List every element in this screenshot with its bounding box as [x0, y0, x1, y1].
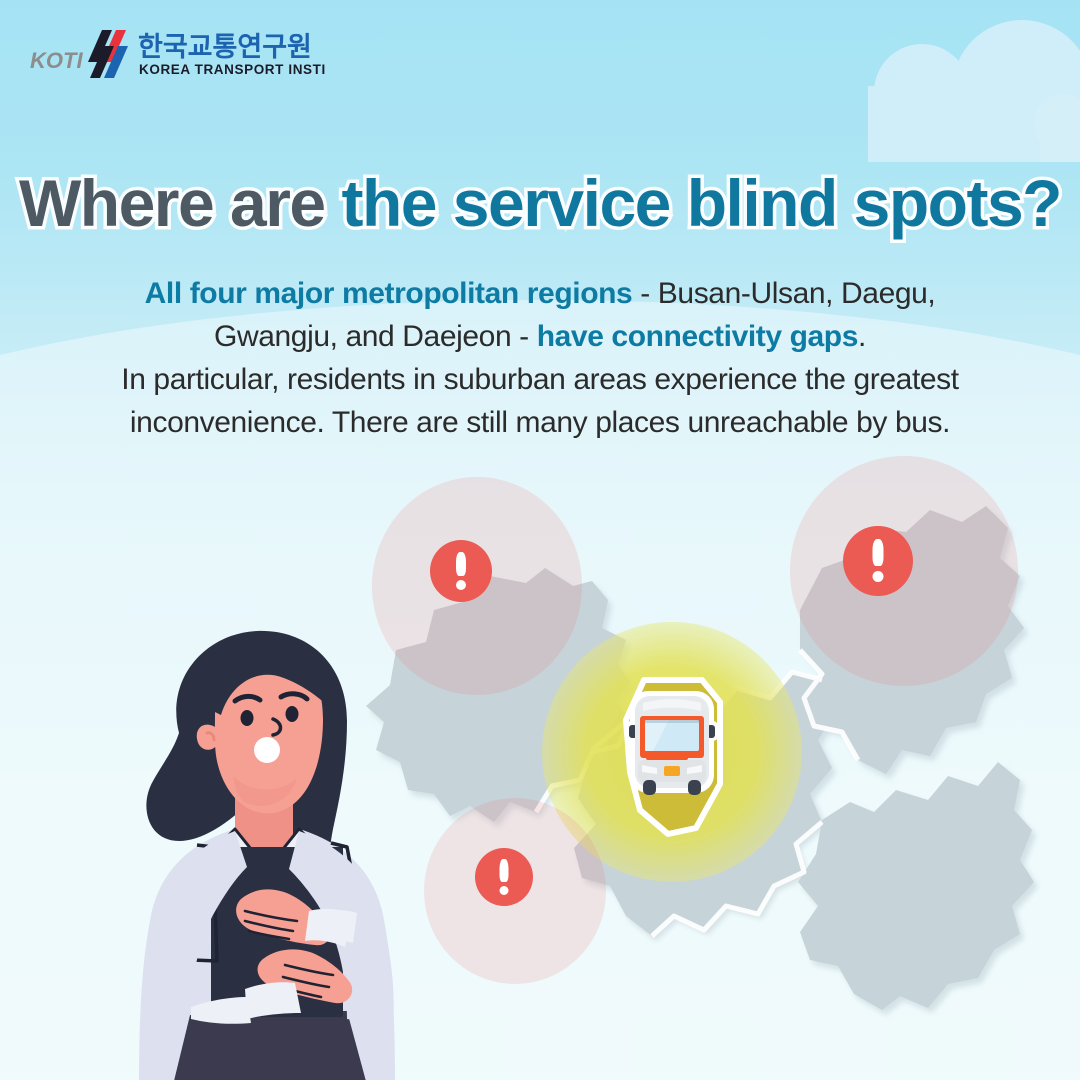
- person-mouth: [254, 737, 280, 763]
- headline-part-2: the service blind spots?: [341, 166, 1061, 240]
- poster-canvas: KOTI 한국교통연구원 KOREA TRANSPORT INSTITUTE W…: [0, 0, 1080, 1080]
- subtitle-line-1-bold: All four major metropolitan regions: [145, 277, 633, 310]
- subtitle-line-2-tail: .: [858, 320, 866, 353]
- woman-with-clipboard-illustration: [95, 615, 435, 1080]
- subtitle-line-2-rest: Gwangju, and Daejeon -: [214, 320, 537, 353]
- svg-text:KOREA TRANSPORT INSTITUTE: KOREA TRANSPORT INSTITUTE: [139, 62, 326, 77]
- logo-slash-mark: [88, 30, 128, 78]
- bus-wheel-left: [643, 780, 656, 795]
- logo-wordmark-english: KOREA TRANSPORT INSTITUTE: [139, 62, 326, 77]
- logo-wordmark-korean: 한국교통연구원: [138, 32, 312, 63]
- subtitle-line-1-rest: - Busan-Ulsan, Daegu,: [632, 277, 935, 310]
- exclamation-glyph: [475, 848, 533, 906]
- warning-exclamation-icon-northeast[interactable]: [843, 526, 913, 596]
- cloud-icon-small: [1040, 120, 1080, 162]
- person-skirt: [173, 1011, 367, 1080]
- subtitle-line-2: Gwangju, and Daejeon - have connectivity…: [0, 315, 1080, 358]
- koti-logo[interactable]: KOTI 한국교통연구원 KOREA TRANSPORT INSTITUTE: [26, 22, 326, 84]
- exclamation-glyph: [430, 540, 492, 602]
- warning-exclamation-icon-southwest[interactable]: [475, 848, 533, 906]
- map-region-south: [798, 762, 1034, 1010]
- warning-exclamation-icon-northwest[interactable]: [430, 540, 492, 602]
- bus-indicator: [664, 766, 680, 776]
- bus-wheel-right: [688, 780, 701, 795]
- korea-map-illustration: [330, 450, 1050, 1010]
- subtitle-block: All four major metropolitan regions - Bu…: [0, 272, 1080, 444]
- headline-part-1: Where are: [19, 166, 341, 240]
- subtitle-line-3: In particular, residents in suburban are…: [0, 358, 1080, 401]
- svg-text:한국교통연구원: 한국교통연구원: [138, 32, 312, 63]
- logo-abbr-text: KOTI: [30, 48, 83, 73]
- subtitle-line-4: inconvenience. There are still many plac…: [0, 401, 1080, 444]
- person-eye-left: [241, 710, 254, 726]
- headline: Where are the service blind spots?: [0, 170, 1080, 236]
- subtitle-line-2-bold: have connectivity gaps: [537, 320, 858, 353]
- person-eye-right: [286, 706, 299, 722]
- exclamation-glyph: [843, 526, 913, 596]
- subtitle-line-1: All four major metropolitan regions - Bu…: [0, 272, 1080, 315]
- city-bus-front-icon[interactable]: [626, 689, 718, 799]
